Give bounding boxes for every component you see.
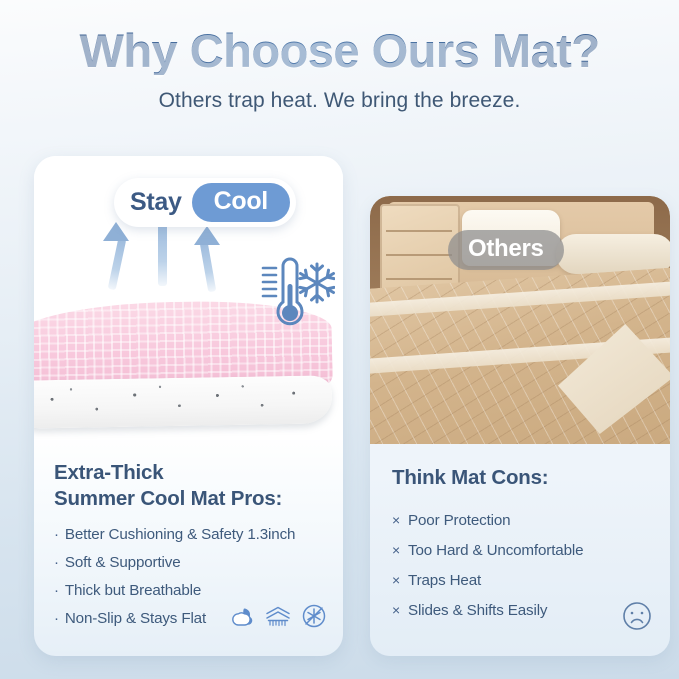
pros-text-block: Extra-Thick Summer Cool Mat Pros: · Bett… — [34, 440, 343, 656]
badge-word-stay: Stay — [130, 188, 182, 217]
white-foam-base-layer — [34, 375, 332, 429]
list-item: · Better Cushioning & Safety 1.3inch — [54, 526, 323, 543]
cons-list: × Poor Protection × Too Hard & Uncomfort… — [392, 512, 652, 619]
cons-heading: Think Mat Cons: — [392, 466, 652, 490]
pros-heading: Extra-Thick Summer Cool Mat Pros: — [54, 460, 323, 512]
others-badge-label: Others — [468, 235, 544, 262]
list-item: × Too Hard & Uncomfortable — [392, 542, 652, 559]
cloud-soft-icon — [229, 604, 255, 633]
bullet-dot-icon: · — [54, 554, 59, 571]
page-title: Why Choose Ours Mat? — [0, 26, 679, 75]
pros-item-text: Better Cushioning & Safety 1.3inch — [65, 526, 295, 543]
thermometer-snowflake-icon — [249, 254, 335, 334]
cons-card: Others Think Mat Cons: × Poor Protection… — [370, 196, 670, 656]
pros-heading-line-1: Extra-Thick — [54, 460, 323, 486]
list-item: × Slides & Shifts Easily — [392, 602, 652, 619]
pros-heading-line-2: Summer Cool Mat Pros: — [54, 486, 323, 512]
cross-mark-icon: × — [392, 512, 400, 528]
cons-item-text: Traps Heat — [408, 572, 481, 589]
anti-mite-icon — [301, 603, 327, 634]
pros-item-text: Non-Slip & Stays Flat — [65, 610, 206, 627]
bullet-dot-icon: · — [54, 610, 59, 627]
product-photo-ours: Stay Cool — [34, 156, 343, 440]
pros-card: Stay Cool Extra-Thick Summer Cool Mat Pr… — [34, 156, 343, 656]
breathable-layers-icon — [264, 604, 292, 633]
cons-text-block: Think Mat Cons: × Poor Protection × Too … — [370, 444, 670, 656]
cross-mark-icon: × — [392, 572, 400, 588]
cons-item-text: Too Hard & Uncomfortable — [408, 542, 583, 559]
list-item: · Soft & Supportive — [54, 554, 323, 571]
others-badge: Others — [448, 230, 564, 270]
list-item: × Poor Protection — [392, 512, 652, 529]
header: Why Choose Ours Mat? Others trap heat. W… — [0, 26, 679, 113]
pros-item-text: Soft & Supportive — [65, 554, 181, 571]
bullet-dot-icon: · — [54, 526, 59, 543]
infographic-page: Why Choose Ours Mat? Others trap heat. W… — [0, 0, 679, 679]
pros-item-text: Thick but Breathable — [65, 582, 201, 599]
badge-word-cool: Cool — [192, 183, 290, 222]
cross-mark-icon: × — [392, 602, 400, 618]
bullet-dot-icon: · — [54, 582, 59, 599]
stay-cool-badge: Stay Cool — [114, 178, 296, 227]
list-item: × Traps Heat — [392, 572, 652, 589]
list-item: · Thick but Breathable — [54, 582, 323, 599]
page-subtitle: Others trap heat. We bring the breeze. — [0, 89, 679, 113]
product-photo-others: Others — [370, 196, 670, 444]
cross-mark-icon: × — [392, 542, 400, 558]
feature-icon-row — [229, 603, 327, 634]
sad-face-icon — [620, 599, 654, 638]
cons-item-text: Slides & Shifts Easily — [408, 602, 547, 619]
cons-item-text: Poor Protection — [408, 512, 510, 529]
